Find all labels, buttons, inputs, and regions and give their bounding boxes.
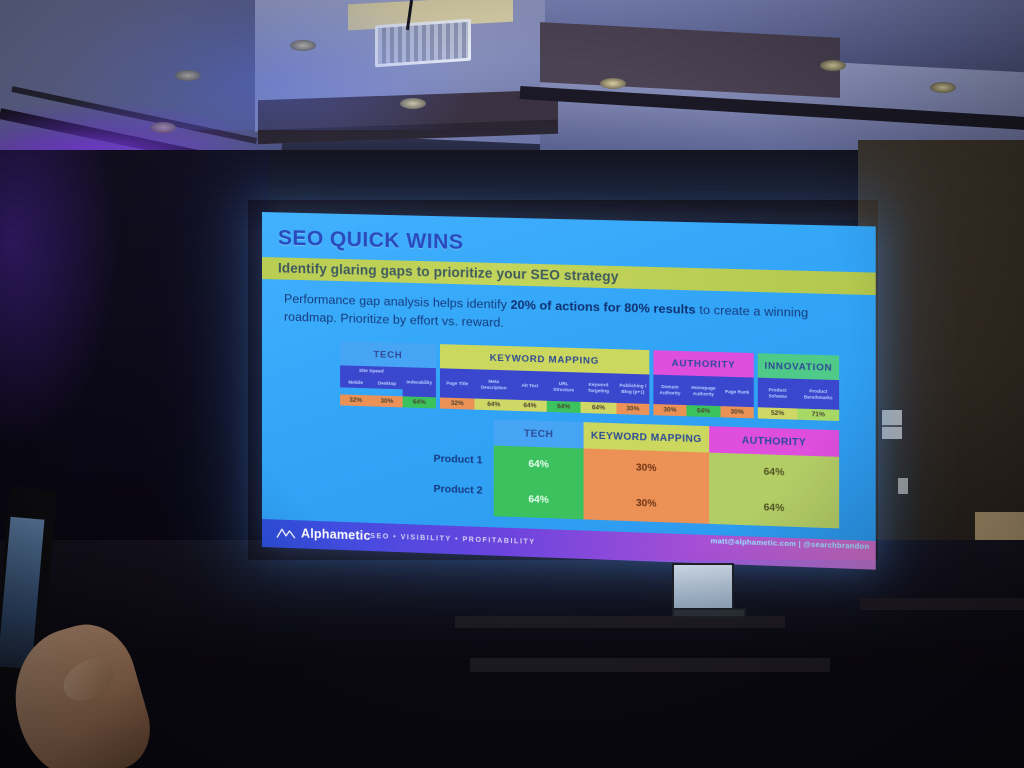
treemap-items: Page Title32%Meta Description64%Alt Text… — [440, 368, 649, 415]
treemap-group: AUTHORITYDomain Authority30%Homepage Aut… — [653, 350, 753, 418]
body-text-highlight: 20% of actions for 80% results — [511, 298, 696, 317]
treemap-group: TECHSite SpeedMobileDesktop32%30%Indexab… — [340, 341, 436, 408]
matrix-cell: 30% — [584, 448, 710, 488]
treemap-item-label: Product Benchmarks — [797, 379, 839, 410]
conference-table — [470, 658, 830, 672]
treemap-item-sublabel: Mobile — [340, 376, 371, 388]
treemap-item-label: Domain Authority — [653, 375, 686, 405]
treemap-group: INNOVATIONProduct Schema52%Product Bench… — [758, 353, 839, 421]
treemap-group-header: INNOVATION — [758, 353, 839, 380]
treemap-item-sublabel: Desktop — [371, 377, 402, 389]
downlight-icon — [600, 78, 626, 89]
treemap-value: 64% — [513, 400, 547, 412]
treemap-item-label: Product Schema — [758, 378, 798, 409]
conference-room-scene: SEO QUICK WINS Identify glaring gaps to … — [0, 0, 1024, 768]
wall-sensor — [898, 478, 908, 494]
treemap-item-label: Page Rank — [721, 377, 754, 408]
matrix-row-label: Product 1 — [372, 442, 488, 476]
treemap-item-label: Publishing / Blog (p+1) — [616, 374, 649, 404]
foreground-phone-and-hand — [0, 538, 150, 768]
treemap-value: 64% — [686, 405, 720, 417]
treemap-item: Site SpeedMobileDesktop32%30% — [340, 365, 402, 407]
treemap-item: Domain Authority30% — [653, 375, 686, 417]
slide-title: SEO QUICK WINS — [278, 226, 463, 255]
treemap-item-label: URL Structure — [547, 371, 581, 401]
treemap-item: Publishing / Blog (p+1)30% — [616, 374, 649, 416]
downlight-icon — [930, 82, 956, 93]
treemap-value: 30% — [721, 406, 754, 418]
matrix-cell: 64% — [494, 446, 584, 484]
treemap-item: Homepage Authority64% — [686, 376, 720, 418]
treemap-item: Meta Description64% — [474, 369, 513, 411]
wall-upper-dark — [240, 150, 880, 220]
treemap-item-label: Indexability — [403, 367, 436, 397]
treemap-item: Indexability64% — [403, 367, 436, 408]
matrix-row-labels: Product 1Product 2 — [372, 442, 488, 506]
treemap-items: Product Schema52%Product Benchmarks71% — [758, 378, 839, 421]
treemap-value: 64% — [581, 402, 617, 414]
treemap-value: 71% — [797, 408, 839, 421]
treemap-value: 30% — [616, 403, 649, 415]
slide-body-text: Performance gap analysis helps identify … — [284, 291, 857, 342]
treemap-value: 30% — [653, 404, 686, 416]
treemap-value: 64% — [403, 396, 436, 408]
treemap-item: Keyword Targeting64% — [581, 372, 617, 414]
treemap-item: Alt Text64% — [513, 370, 547, 411]
treemap-item: Page Title32% — [440, 368, 474, 409]
matrix-column: TECH64%64% — [494, 419, 584, 519]
treemap-item-label: Alt Text — [513, 370, 547, 400]
treemap-value: 32% — [440, 397, 474, 409]
audience-foreground — [0, 508, 1024, 768]
matrix-cell: 64% — [709, 453, 839, 493]
treemap-item-label: Meta Description — [474, 369, 513, 399]
light-switch-plate[interactable] — [880, 408, 904, 441]
treemap-item: Page Rank30% — [721, 377, 754, 419]
laptop-base — [672, 608, 746, 618]
treemap-item-label: Page Title — [440, 368, 474, 398]
treemap-group-header: TECH — [340, 341, 436, 368]
treemap-item: URL Structure64% — [547, 371, 581, 413]
treemap-item: Product Benchmarks71% — [797, 379, 839, 421]
treemap-item: Product Schema52% — [758, 378, 798, 420]
slide-subtitle: Identify glaring gaps to prioritize your… — [278, 260, 619, 284]
matrix-row-label: Product 2 — [372, 472, 488, 506]
treemap-item-label: Keyword Targeting — [581, 372, 617, 402]
treemap-items: Domain Authority30%Homepage Authority64%… — [653, 375, 753, 419]
slide-subtitle-band: Identify glaring gaps to prioritize your… — [262, 257, 876, 295]
treemap-group-header: AUTHORITY — [653, 350, 753, 377]
treemap-group: KEYWORD MAPPINGPage Title32%Meta Descrip… — [440, 344, 649, 415]
treemap-value: 64% — [474, 399, 513, 411]
treemap-items: Site SpeedMobileDesktop32%30%Indexabilit… — [340, 365, 436, 408]
downlight-icon — [820, 60, 846, 71]
matrix-column-header: TECH — [494, 419, 584, 448]
treemap-value: 32% — [340, 394, 371, 406]
performance-gap-treemap: TECHSite SpeedMobileDesktop32%30%Indexab… — [340, 341, 837, 421]
matrix-column-header: KEYWORD MAPPING — [584, 422, 710, 452]
treemap-value: 64% — [547, 401, 581, 413]
conference-table — [860, 598, 1024, 610]
body-text-part1: Performance gap analysis helps identify — [284, 292, 511, 312]
treemap-value: 52% — [758, 407, 798, 419]
treemap-value: 30% — [371, 395, 402, 407]
treemap-item-label: Homepage Authority — [686, 376, 720, 407]
matrix-column-header: AUTHORITY — [709, 426, 839, 457]
wall-purple-glow — [0, 150, 120, 450]
wall-right — [858, 140, 1024, 570]
